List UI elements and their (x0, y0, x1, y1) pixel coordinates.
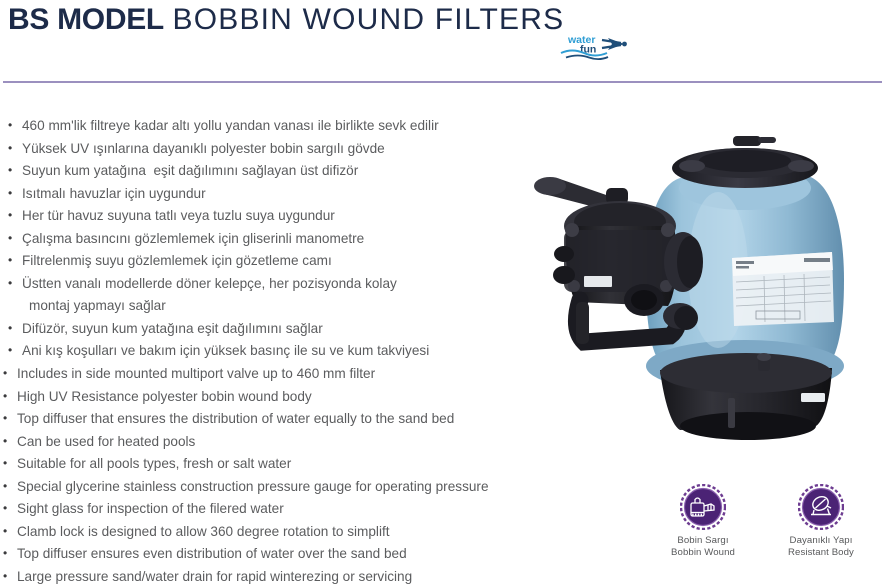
list-item: Includes in side mounted multiport valve… (3, 363, 563, 386)
list-item: Large pressure sand/water drain for rapi… (3, 566, 563, 588)
filter-base (660, 353, 832, 440)
valve-union-nut (664, 232, 703, 292)
resistant-body-icon (798, 484, 844, 530)
list-item: Top diffuser that ensures the distributi… (3, 408, 563, 431)
list-item: Çalışma basıncını gözlemlemek için glise… (8, 228, 508, 251)
sand-filter-photo (520, 130, 885, 450)
badge-label-en: Resistant Body (773, 547, 869, 559)
list-item: Top diffuser ensures even distribution o… (3, 543, 563, 566)
list-item: Suitable for all pools types, fresh or s… (3, 453, 563, 476)
page-title-bold: BS MODEL (8, 3, 164, 36)
feature-badge-label: Bobin SargıBobbin Wound (655, 535, 751, 558)
list-item: Suyun kum yatağına eşit dağılımını sağla… (8, 160, 508, 183)
list-item: Üstten vanalı modellerde döner kelepçe, … (8, 273, 508, 296)
list-item: montaj yapmayı sağlar (8, 295, 508, 318)
list-item: Clamb lock is designed to allow 360 degr… (3, 521, 563, 544)
list-item: High UV Resistance polyester bobin wound… (3, 386, 563, 409)
swimmer-glyph (602, 38, 627, 50)
page-title-light: BOBBIN WOUND FILTERS (172, 3, 564, 36)
bobbin-wound-icon (680, 484, 726, 530)
list-item: Can be used for heated pools (3, 431, 563, 454)
list-item: Special glycerine stainless construction… (3, 476, 563, 499)
page-header: BS MODEL BOBBIN WOUND FILTERS water fun (0, 0, 885, 86)
list-item: Isıtmalı havuzlar için uygundur (8, 183, 508, 206)
feature-badge: Dayanıklı YapıResistant Body (773, 484, 869, 576)
feature-list-english: Includes in side mounted multiport valve… (3, 363, 563, 588)
list-item: Ani kış koşulları ve bakım için yüksek b… (8, 340, 508, 363)
list-item: 460 mm'lik filtreye kadar altı yollu yan… (8, 115, 508, 138)
waterfun-logo: water fun (558, 30, 630, 62)
list-item: Sight glass for inspection of the filere… (3, 498, 563, 521)
feature-list-turkish: 460 mm'lik filtreye kadar altı yollu yan… (8, 115, 508, 363)
list-item: Yüksek UV ışınlarına dayanıklı polyester… (8, 138, 508, 161)
header-divider (3, 81, 882, 83)
drain-cap (757, 353, 771, 371)
page-title: BS MODEL BOBBIN WOUND FILTERS (8, 3, 564, 37)
spec-label-sticker (732, 252, 834, 326)
badge-label-tr: Bobin Sargı (655, 535, 751, 547)
feature-badges: Bobin SargıBobbin WoundDayanıklı YapıRes… (655, 484, 885, 576)
feature-badge: Bobin SargıBobbin Wound (655, 484, 751, 576)
list-item: Her tür havuz suyuna tatlı veya tuzlu su… (8, 205, 508, 228)
feature-badge-label: Dayanıklı YapıResistant Body (773, 535, 869, 558)
badge-label-en: Bobbin Wound (655, 547, 751, 559)
list-item: Filtrelenmiş suyu gözlemlemek için gözet… (8, 250, 508, 273)
tank-lid-clamp (672, 136, 818, 188)
list-item: Difüzör, suyun kum yatağına eşit dağılım… (8, 318, 508, 341)
badge-label-tr: Dayanıklı Yapı (773, 535, 869, 547)
